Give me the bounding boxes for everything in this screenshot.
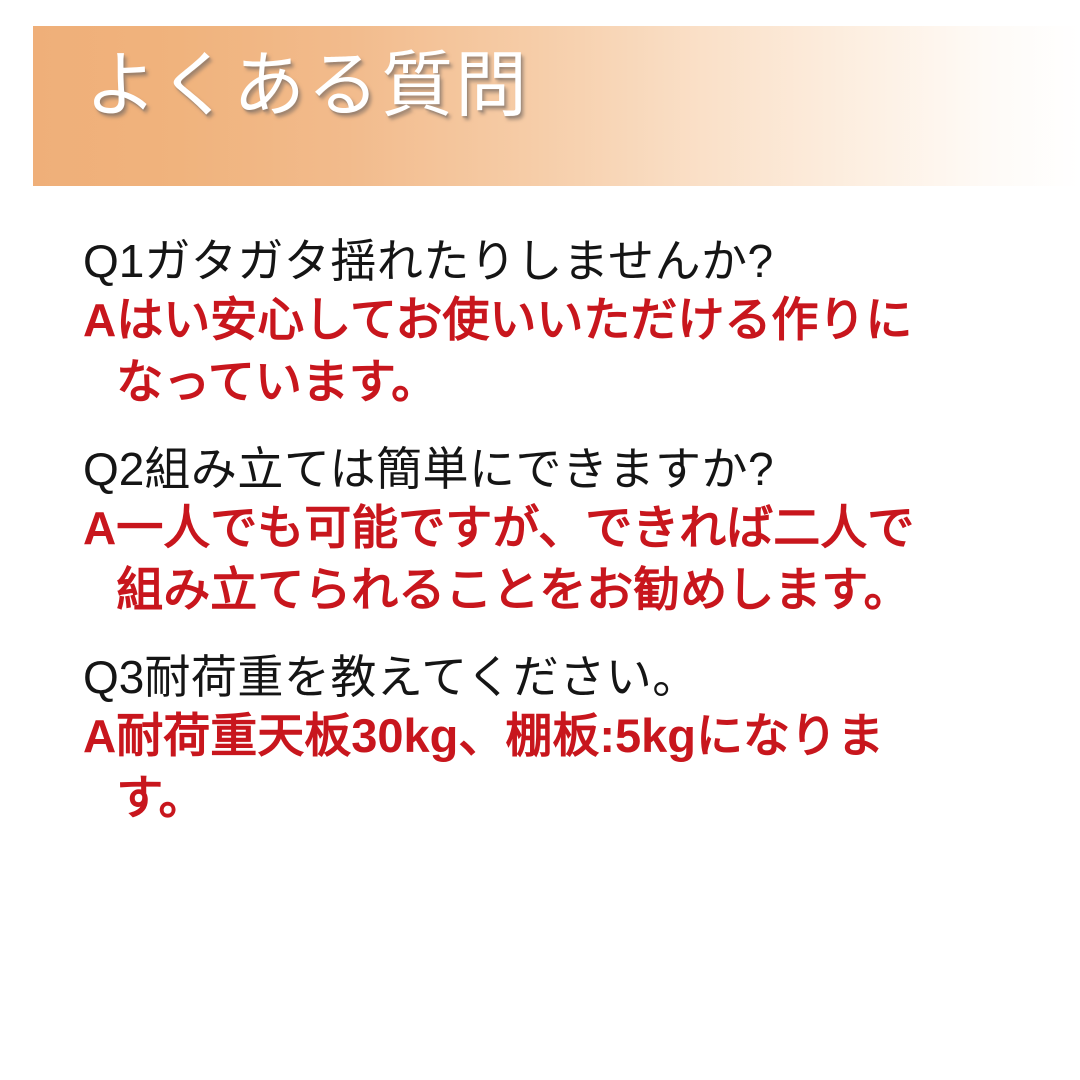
- question-label: Q2: [0, 441, 144, 497]
- answer-label: A: [0, 289, 116, 351]
- faq-item: Q3 耐荷重を教えてください。 A 耐荷重天板30kg、棚板:5kgになりま す…: [0, 649, 1080, 829]
- faq-answer-row: A 耐荷重天板30kg、棚板:5kgになりま す。: [0, 705, 1080, 829]
- page-title: よくある質問: [85, 50, 529, 122]
- faq-page: よくある質問 Q1 ガタガタ揺れたりしませんか? A はい安心してお使いいただけ…: [0, 0, 1080, 1080]
- answer-line: す。: [116, 767, 1058, 829]
- faq-question-row: Q1 ガタガタ揺れたりしませんか?: [0, 233, 1080, 289]
- answer-line: 組み立てられることをお勧めします。: [116, 559, 1058, 621]
- question-text: ガタガタ揺れたりしませんか?: [144, 233, 1080, 289]
- answer-label: A: [0, 705, 116, 767]
- faq-answer-row: A 一人でも可能ですが、できれば二人で 組み立てられることをお勧めします。: [0, 497, 1080, 621]
- answer-text: はい安心してお使いいただける作りに なっています。: [116, 289, 1080, 413]
- question-line: ガタガタ揺れたりしませんか?: [144, 233, 1058, 289]
- question-text: 耐荷重を教えてください。: [144, 649, 1080, 705]
- faq-item: Q1 ガタガタ揺れたりしませんか? A はい安心してお使いいただける作りに なっ…: [0, 233, 1080, 413]
- question-text: 組み立ては簡単にできますか?: [144, 441, 1080, 497]
- question-label: Q1: [0, 233, 144, 289]
- answer-line: 耐荷重天板30kg、棚板:5kgになりま: [116, 705, 1058, 767]
- answer-line: なっています。: [116, 351, 1058, 413]
- answer-line: 一人でも可能ですが、できれば二人で: [116, 497, 1058, 559]
- faq-item: Q2 組み立ては簡単にできますか? A 一人でも可能ですが、できれば二人で 組み…: [0, 441, 1080, 621]
- header-banner: よくある質問: [33, 26, 1080, 186]
- question-label: Q3: [0, 649, 144, 705]
- faq-question-row: Q2 組み立ては簡単にできますか?: [0, 441, 1080, 497]
- answer-text: 一人でも可能ですが、できれば二人で 組み立てられることをお勧めします。: [116, 497, 1080, 621]
- question-line: 組み立ては簡単にできますか?: [144, 441, 1058, 497]
- answer-label: A: [0, 497, 116, 559]
- faq-answer-row: A はい安心してお使いいただける作りに なっています。: [0, 289, 1080, 413]
- answer-line: はい安心してお使いいただける作りに: [116, 289, 1058, 351]
- faq-question-row: Q3 耐荷重を教えてください。: [0, 649, 1080, 705]
- faq-list: Q1 ガタガタ揺れたりしませんか? A はい安心してお使いいただける作りに なっ…: [0, 233, 1080, 857]
- answer-text: 耐荷重天板30kg、棚板:5kgになりま す。: [116, 705, 1080, 829]
- question-line: 耐荷重を教えてください。: [144, 649, 1058, 705]
